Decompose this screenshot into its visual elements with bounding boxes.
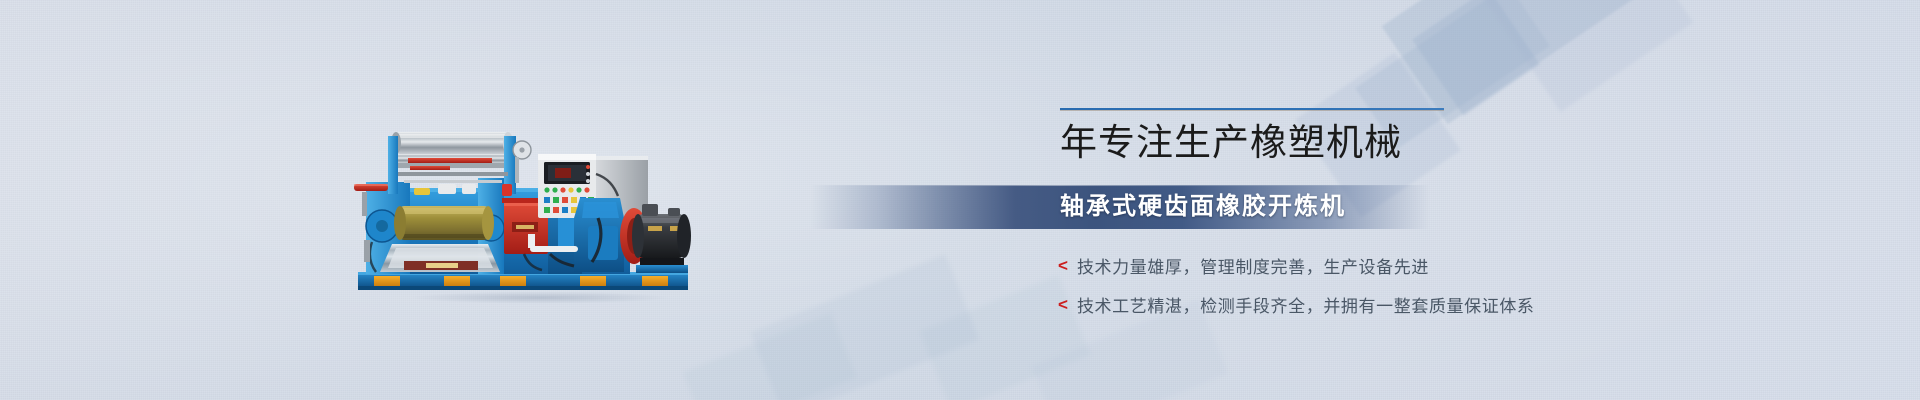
list-item: < 技术力量雄厚，管理制度完善，生产设备先进	[1058, 253, 1535, 278]
chevron-left-icon: <	[1058, 257, 1068, 274]
decorative-polygon-icon	[683, 313, 858, 400]
subtitle-bar: 轴承式硬齿面橡胶开炼机	[810, 185, 1430, 229]
page-title: 年专注生产橡塑机械	[1060, 121, 1680, 167]
headline-divider-shadow	[1060, 110, 1444, 111]
list-item: < 技术工艺精湛，检测手段齐全，并拥有一整套质量保证体系	[1058, 292, 1535, 317]
subtitle-text: 轴承式硬齿面橡胶开炼机	[1060, 185, 1346, 229]
list-item-label: 技术工艺精湛，检测手段齐全，并拥有一整套质量保证体系	[1077, 292, 1535, 317]
banner-text-block: 年专注生产橡塑机械 轴承式硬齿面橡胶开炼机 < 技术力量雄厚，管理制度完善，生产…	[1060, 108, 1680, 167]
decorative-polygon-icon	[750, 254, 979, 400]
promo-banner: 年专注生产橡塑机械 轴承式硬齿面橡胶开炼机 < 技术力量雄厚，管理制度完善，生产…	[0, 0, 1920, 400]
product-image-rubber-mixing-mill	[352, 122, 724, 300]
decorative-polygon-icon	[1477, 0, 1694, 112]
feature-list: < 技术力量雄厚，管理制度完善，生产设备先进 < 技术工艺精湛，检测手段齐全，并…	[1058, 253, 1535, 331]
decorative-polygon-icon	[1412, 0, 1540, 116]
chevron-left-icon: <	[1058, 296, 1068, 313]
list-item-label: 技术力量雄厚，管理制度完善，生产设备先进	[1077, 253, 1429, 278]
decorative-polygon-icon	[1382, 0, 1639, 124]
